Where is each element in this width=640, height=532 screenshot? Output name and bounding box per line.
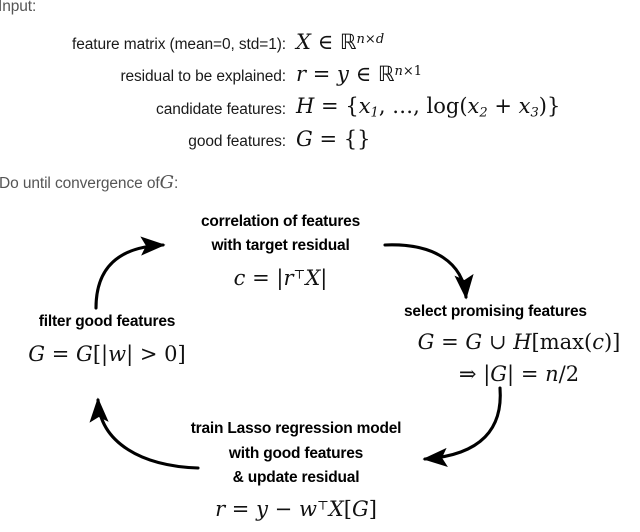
node-filter-formula: G = G[|w| > 0] bbox=[0, 342, 214, 366]
node-select-formula-line2: ⇒ |G| = n/2 bbox=[398, 362, 640, 386]
node-filter-title: filter good features bbox=[6, 313, 208, 331]
input-label-candidate-features: candidate features: bbox=[0, 101, 286, 119]
loop-heading: Do until convergence ofG: bbox=[0, 172, 178, 193]
loop-heading-colon: : bbox=[174, 175, 178, 192]
input-formula-good-features: G = {} bbox=[296, 127, 371, 151]
arrow-correlation-to-select bbox=[385, 245, 466, 297]
loop-heading-symbol: G bbox=[160, 172, 174, 193]
input-label-good-features: good features: bbox=[0, 133, 286, 151]
node-train-title-line3: & update residual bbox=[150, 469, 442, 487]
node-correlation-title-line1: correlation of features bbox=[173, 213, 388, 231]
input-formula-feature-matrix: X ∈ ℝn×d bbox=[296, 30, 384, 54]
loop-heading-text: Do until convergence of bbox=[0, 175, 160, 192]
input-label-feature-matrix: feature matrix (mean=0, std=1): bbox=[0, 36, 286, 54]
input-label-residual: residual to be explained: bbox=[0, 68, 286, 86]
input-formula-residual: r = y ∈ ℝn×1 bbox=[296, 62, 422, 86]
node-select-formula-line1: G = G ∪ H[max(c)] bbox=[398, 330, 640, 354]
node-select-title: select promising features bbox=[404, 303, 587, 321]
node-correlation-formula: c = |r⊤X| bbox=[173, 266, 388, 290]
arrow-filter-to-correlation bbox=[96, 245, 163, 308]
node-correlation-title-line2: with target residual bbox=[173, 237, 388, 255]
node-train-title-line2: with good features bbox=[150, 445, 442, 463]
input-formula-candidate-features: H = {x1, …, log(x2 + x3)} bbox=[296, 94, 560, 121]
node-train-formula: r = y − w⊤X[G] bbox=[150, 497, 442, 521]
node-train-title-line1: train Lasso regression model bbox=[150, 420, 442, 438]
input-section-heading: Input: bbox=[0, 0, 36, 16]
